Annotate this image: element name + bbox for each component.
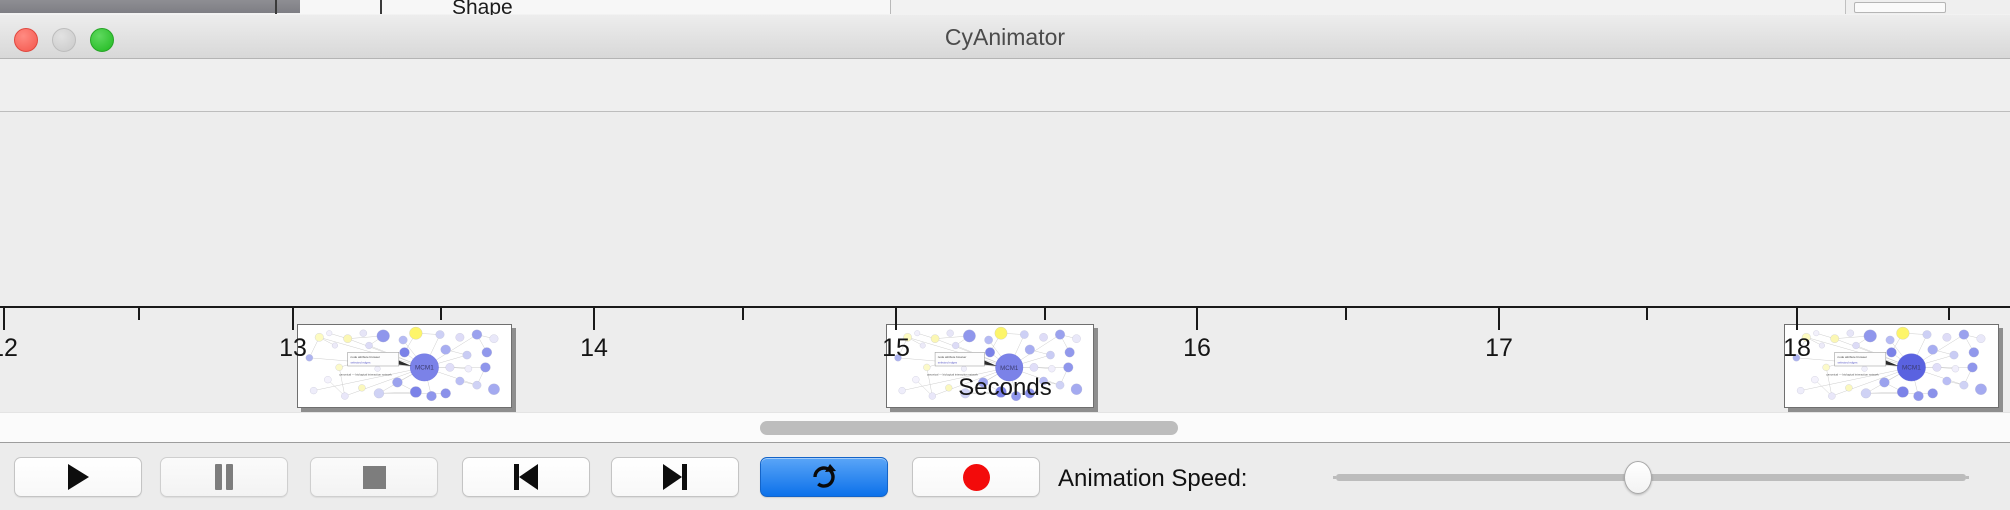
window-title: CyAnimator bbox=[0, 15, 2010, 59]
background-gridline bbox=[380, 0, 382, 14]
skip-to-start-button[interactable] bbox=[462, 457, 590, 497]
ruler-tick-major bbox=[3, 308, 5, 330]
ruler-tick-minor bbox=[1948, 308, 1950, 320]
ruler-tick-major bbox=[1196, 308, 1198, 330]
background-dark-panel bbox=[0, 0, 300, 13]
title-bar: CyAnimator bbox=[0, 15, 2010, 59]
scrollbar-thumb[interactable] bbox=[760, 421, 1178, 435]
pause-button bbox=[160, 457, 288, 497]
timeline-panel[interactable]: MCM1node attribute browserselected edges… bbox=[0, 112, 2010, 412]
background-right-panel bbox=[1845, 0, 2010, 14]
stop-icon bbox=[363, 466, 386, 489]
timeline-scrollbar[interactable] bbox=[0, 412, 2010, 442]
ruler-tick-label: 14 bbox=[580, 334, 608, 363]
ruler-tick-minor bbox=[1646, 308, 1648, 320]
background-app-strip: Shape bbox=[0, 0, 2010, 15]
ruler-tick-label: 15 bbox=[882, 334, 910, 363]
ruler-tick-major bbox=[292, 308, 294, 330]
record-button[interactable] bbox=[912, 457, 1040, 497]
ruler-tick-major bbox=[895, 308, 897, 330]
ruler-tick-label: 13 bbox=[279, 334, 307, 363]
ruler-tick-minor bbox=[440, 308, 442, 320]
ruler-tick-major bbox=[1498, 308, 1500, 330]
pause-icon bbox=[214, 464, 234, 490]
background-gridline bbox=[275, 0, 277, 14]
play-button[interactable] bbox=[14, 457, 142, 497]
ruler-tick-minor bbox=[138, 308, 140, 320]
background-tab-label: Shape bbox=[452, 0, 513, 15]
play-icon bbox=[68, 464, 89, 490]
loop-icon bbox=[809, 462, 839, 492]
ruler-tick-major bbox=[593, 308, 595, 330]
timeline-ruler[interactable]: 12131415161718 Seconds bbox=[0, 306, 2010, 412]
loop-button[interactable] bbox=[760, 457, 888, 497]
ruler-tick-label: 12 bbox=[0, 334, 18, 363]
frame-toolbar: Clear All Frames bbox=[0, 59, 2010, 112]
animation-speed-label: Animation Speed: bbox=[1058, 465, 1247, 493]
skip-to-end-button[interactable] bbox=[611, 457, 739, 497]
ruler-tick-label: 17 bbox=[1485, 334, 1513, 363]
cyanimator-window: Shape CyAnimator Clear All Frames MCM1no… bbox=[0, 0, 2010, 510]
background-cell bbox=[300, 0, 421, 14]
ruler-tick-minor bbox=[1345, 308, 1347, 320]
ruler-tick-label: 18 bbox=[1783, 334, 1811, 363]
skip-forward-icon bbox=[663, 464, 687, 490]
ruler-baseline bbox=[0, 306, 2010, 308]
record-icon bbox=[963, 464, 990, 491]
ruler-tick-minor bbox=[742, 308, 744, 320]
animation-speed-slider[interactable] bbox=[1336, 457, 1966, 497]
ruler-tick-major bbox=[1796, 308, 1798, 330]
ruler-tick-label: 16 bbox=[1183, 334, 1211, 363]
playback-control-bar: Animation Speed: bbox=[0, 442, 2010, 510]
background-cell bbox=[640, 0, 891, 14]
skip-back-icon bbox=[514, 464, 538, 490]
slider-thumb[interactable] bbox=[1624, 461, 1652, 494]
ruler-tick-minor bbox=[1044, 308, 1046, 320]
axis-title: Seconds bbox=[0, 374, 2010, 402]
stop-button bbox=[310, 457, 438, 497]
